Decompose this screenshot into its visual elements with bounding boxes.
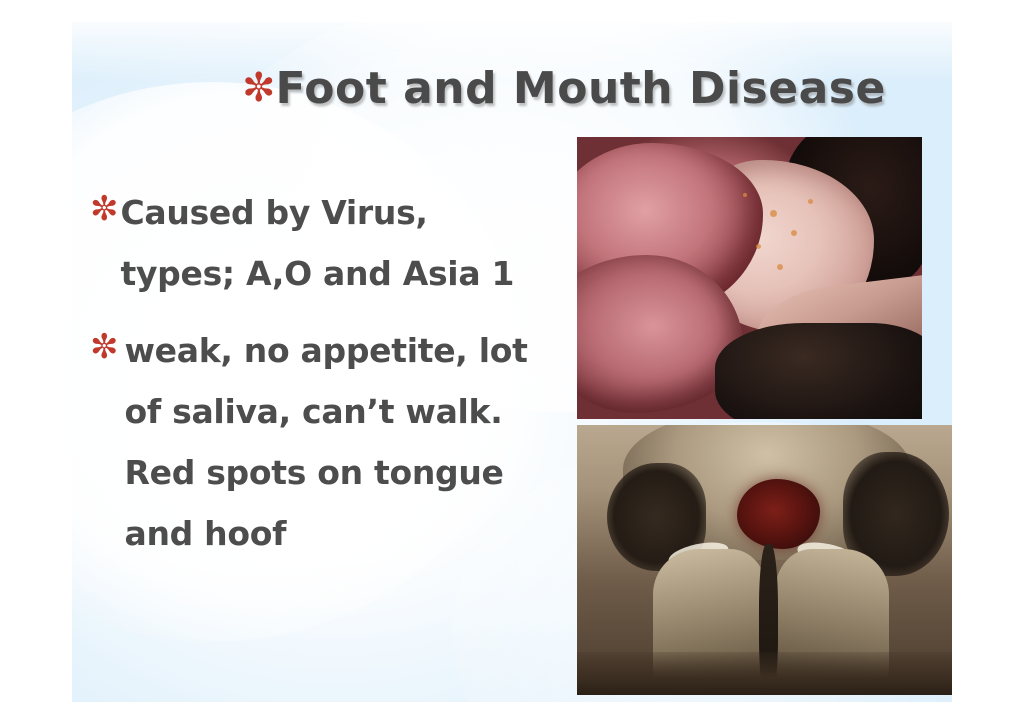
bullet-text: weak, no appetite, lot of saliva, can’t … — [119, 320, 555, 564]
bullet-item: ✼ Caused by Virus, types; A,O and Asia 1 — [90, 182, 590, 304]
hoof-lesion-photo — [577, 425, 952, 695]
mouth-lesion-photo — [577, 137, 922, 419]
bullet-text: Caused by Virus, types; A,O and Asia 1 — [119, 182, 551, 304]
slide-title: ✼ Foot and Mouth Disease — [242, 64, 886, 114]
asterisk-icon: ✼ — [90, 182, 119, 228]
slide-body: ✼ Caused by Virus, types; A,O and Asia 1… — [90, 182, 590, 574]
slide-title-text: Foot and Mouth Disease — [276, 64, 886, 114]
slide-canvas: ✼ Foot and Mouth Disease ✼ Caused by Vir… — [72, 22, 952, 702]
bullet-item: ✼ weak, no appetite, lot of saliva, can’… — [90, 320, 590, 564]
asterisk-icon: ✼ — [90, 320, 119, 366]
asterisk-icon: ✼ — [242, 68, 276, 108]
